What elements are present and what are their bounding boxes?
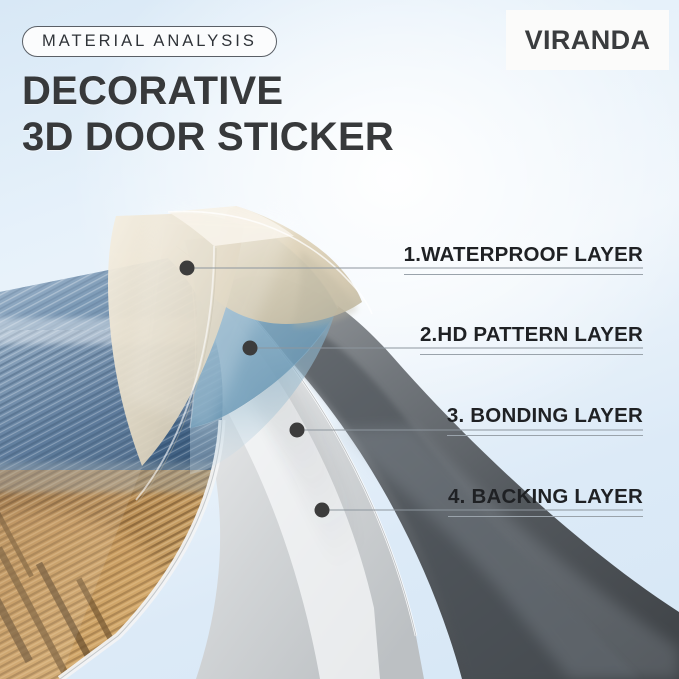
callout-label-2-text: 2.HD PATTERN LAYER	[420, 323, 643, 354]
callout-dot-3	[290, 423, 305, 438]
callout-label-4-text: 4. BACKING LAYER	[448, 485, 643, 516]
callout-rule-4	[448, 516, 643, 517]
callout-rule-3	[447, 435, 643, 436]
beach-photo-print	[0, 200, 280, 679]
product-infographic-poster: MATERIAL ANALYSIS DECORATIVE 3D DOOR STI…	[0, 0, 679, 679]
brand-logo-plate: VIRANDA	[506, 10, 669, 70]
callout-dot-4	[315, 503, 330, 518]
callout-label-4: 4. BACKING LAYER	[448, 485, 643, 517]
material-analysis-badge-label: MATERIAL ANALYSIS	[42, 32, 257, 51]
callout-label-3: 3. BONDING LAYER	[447, 404, 643, 436]
callout-label-2: 2.HD PATTERN LAYER	[420, 323, 643, 355]
callout-label-1-text: 1.WATERPROOF LAYER	[404, 243, 643, 274]
callout-dot-2	[243, 341, 258, 356]
page-title-line-2: 3D DOOR STICKER	[22, 114, 492, 160]
callout-dot-1	[180, 261, 195, 276]
callout-leaders	[180, 261, 644, 518]
page-title: DECORATIVE 3D DOOR STICKER	[22, 68, 492, 160]
callout-rule-2	[420, 354, 643, 355]
material-analysis-badge: MATERIAL ANALYSIS	[22, 26, 277, 57]
callout-label-1: 1.WATERPROOF LAYER	[404, 243, 643, 275]
page-title-line-1: DECORATIVE	[22, 68, 492, 114]
brand-name: VIRANDA	[525, 25, 651, 56]
callout-label-3-text: 3. BONDING LAYER	[447, 404, 643, 435]
callout-rule-1	[404, 274, 643, 275]
